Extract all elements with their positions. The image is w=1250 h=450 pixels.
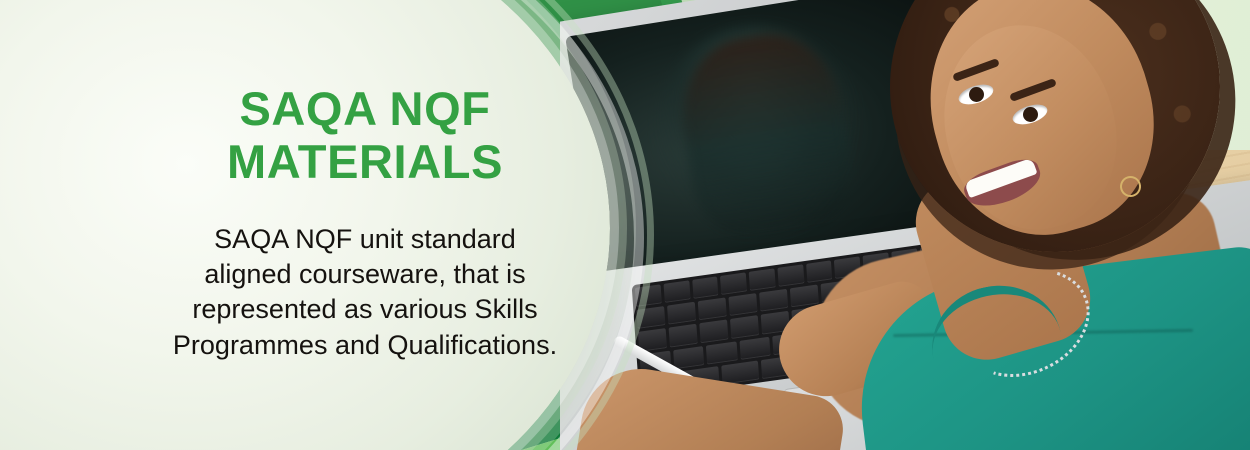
- keyboard-key: [669, 324, 698, 347]
- keyboard-key: [698, 298, 727, 321]
- keyboard-key: [673, 346, 705, 369]
- pupil-left: [969, 87, 984, 102]
- headline-line-2: MATERIALS: [227, 135, 503, 188]
- description-line-3: represented as various Skills: [130, 292, 600, 327]
- headline-line-1: SAQA NQF: [239, 82, 490, 135]
- keyboard-key: [692, 276, 719, 299]
- keyboard-key: [706, 341, 738, 364]
- banner-description: SAQA NQF unit standard aligned coursewar…: [130, 222, 600, 362]
- description-line-4: Programmes and Qualifications.: [130, 328, 600, 363]
- pupil-right: [1023, 107, 1038, 122]
- keyboard-key: [806, 260, 833, 283]
- keyboard-key: [730, 316, 759, 339]
- description-line-2: aligned courseware, that is: [130, 257, 600, 292]
- keyboard-key: [749, 268, 776, 291]
- banner-text-block: SAQA NQF MATERIALS SAQA NQF unit standar…: [130, 82, 600, 363]
- keyboard-key: [777, 264, 804, 287]
- keyboard-key: [739, 336, 771, 359]
- keyboard-key: [663, 280, 690, 303]
- keyboard-key: [720, 272, 747, 295]
- page-title: SAQA NQF MATERIALS: [130, 82, 600, 188]
- description-line-1: SAQA NQF unit standard: [130, 222, 600, 257]
- keyboard-key: [667, 302, 696, 325]
- keyboard-key: [699, 320, 728, 343]
- saqa-nqf-materials-banner: SAQA NQF MATERIALS SAQA NQF unit standar…: [0, 0, 1250, 450]
- keyboard-key: [728, 293, 757, 316]
- hero-photo: [560, 0, 1250, 450]
- keyboard-key: [790, 285, 819, 308]
- keyboard-key: [759, 289, 788, 312]
